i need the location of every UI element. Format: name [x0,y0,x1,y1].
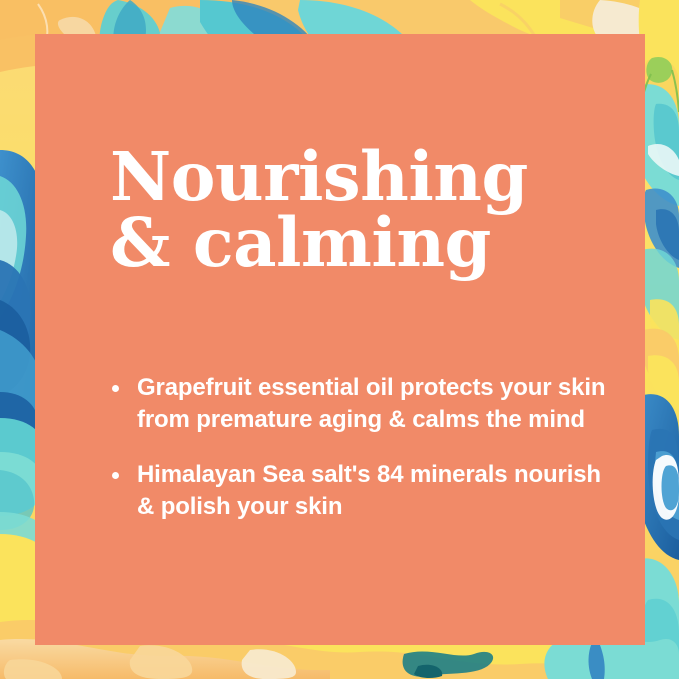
page-title: Nourishing & calming [110,144,610,277]
benefit-text-grapefruit: Grapefruit essential oil protects your s… [137,372,620,435]
benefit-text-himalayan-salt: Himalayan Sea salt's 84 minerals nourish… [137,459,620,522]
bullet-dot-icon [112,472,119,479]
headline-line-2: & calming [110,210,610,276]
list-item: Himalayan Sea salt's 84 minerals nourish… [110,459,620,522]
benefits-list: Grapefruit essential oil protects your s… [110,372,620,523]
list-item: Grapefruit essential oil protects your s… [110,372,620,435]
bullet-dot-icon [112,385,119,392]
content-panel: Nourishing & calming Grapefruit essentia… [35,34,645,645]
product-graphic: Nourishing & calming Grapefruit essentia… [0,0,679,679]
headline-line-1: Nourishing [110,144,610,210]
